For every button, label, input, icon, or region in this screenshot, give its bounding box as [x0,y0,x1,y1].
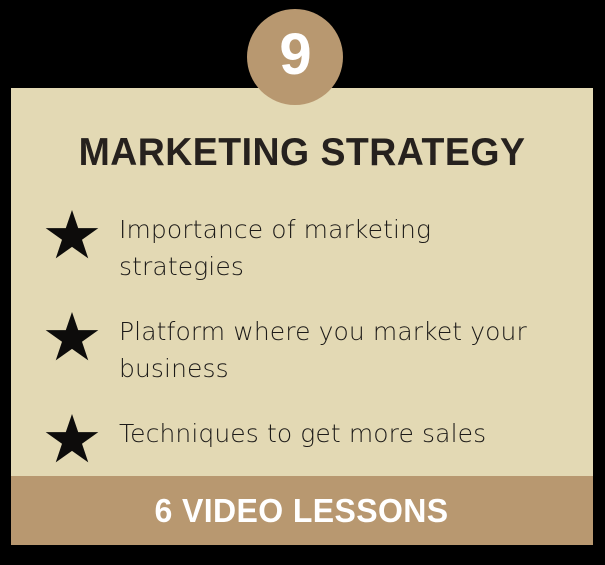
lessons-count-label: 6 VIDEO LESSONS [155,494,449,527]
star-icon [44,312,100,362]
list-item: Platform where you market your business [44,312,574,387]
lessons-count-banner: 6 VIDEO LESSONS [11,476,593,545]
list-item-label: Techniques to get more sales [100,414,549,452]
module-card-poster: 9 MARKETING STRATEGY Importance of marke… [0,0,605,565]
list-item-label: Platform where you market your business [100,312,549,387]
star-icon [44,210,100,260]
module-number-label: 9 [279,26,310,84]
module-bullet-list: Importance of marketing strategies Platf… [44,210,574,491]
list-item-label: Importance of marketing strategies [100,210,549,285]
list-item: Techniques to get more sales [44,414,574,464]
module-title: MARKETING STRATEGY [23,132,582,174]
list-item: Importance of marketing strategies [44,210,574,285]
module-card: MARKETING STRATEGY Importance of marketi… [11,88,593,545]
star-icon [44,414,100,464]
module-number-badge: 9 [247,9,343,105]
